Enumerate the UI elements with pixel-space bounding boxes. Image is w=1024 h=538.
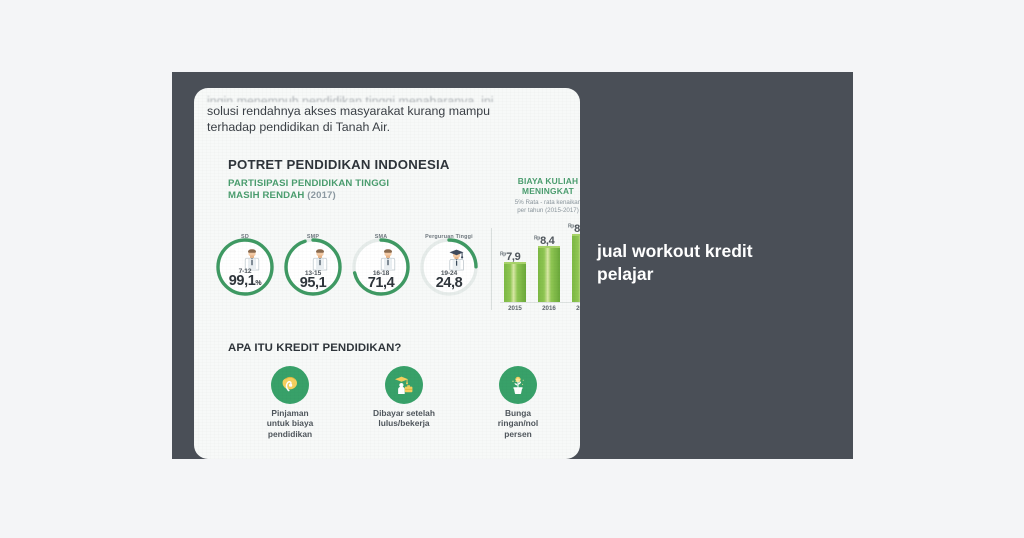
donut-sma: SMA 16-18 [348, 234, 414, 300]
section-subtitle-line-2: MASIH RENDAH [228, 190, 304, 201]
chart-baseline [500, 302, 580, 303]
donut-sma-value: 71,4 [368, 276, 395, 291]
student-icon [312, 249, 328, 271]
donut-perguruan-tinggi-value: 24,8 [436, 276, 463, 291]
student-icon [380, 249, 396, 271]
section-subtitle-line-1: PARTISIPASI PENDIDIKAN TINGGI [228, 178, 389, 190]
graduate-job-icon [385, 366, 423, 404]
infographic-card: ingin menempuh pendidikan tinggi menahar… [194, 88, 580, 459]
donut-sd: SD 7-12 [212, 234, 278, 300]
biaya-title-line-2: MENINGKAT [494, 186, 580, 196]
credit-features-list: Pinjaman untuk biaya pendidikan [244, 366, 564, 439]
biaya-title-line-1: BIAYA KULIAH [494, 176, 580, 186]
donut-smp-value: 95,1 [300, 276, 327, 291]
hand-money-icon [271, 366, 309, 404]
donut-sd-value: 99,1% [229, 274, 261, 291]
section-subtitle-year: (2017) [307, 190, 336, 201]
intro-paragraph: ingin menempuh pendidikan tinggi menahar… [207, 94, 559, 135]
graduate-student-icon [448, 249, 466, 271]
bar-group-2015: Rp7,9 2015 [504, 262, 526, 302]
bar-2016-value: Rp8,4 [534, 235, 554, 247]
intro-line-2: terhadap pendidikan di Tanah Air. [207, 120, 559, 136]
feature-pinjaman-text: Pinjaman untuk biaya pendidikan [244, 408, 336, 439]
screenshot-root: ingin menempuh pendidikan tinggi menahar… [0, 0, 1024, 538]
feature-bunga-ringan-text: Bunga ringan/nol persen [472, 408, 564, 439]
section-subtitle: PARTISIPASI PENDIDIKAN TINGGI MASIH REND… [228, 178, 389, 201]
feature-dibayar-setelah-lulus-text: Dibayar setelah lulus/bekerja [358, 408, 450, 429]
bar-group-2016: Rp8,4 2016 [538, 246, 560, 302]
section-divider [491, 228, 492, 310]
bar-2015-value: Rp7,9 [500, 251, 520, 263]
intro-clipped-line: ingin menempuh pendidikan tinggi menahar… [207, 94, 559, 102]
page-title: POTRET PENDIDIKAN INDONESIA [228, 157, 450, 172]
caption-line-1: jual workout kredit [597, 240, 812, 263]
biaya-kuliah-bar-chart: Rp7,9 2015 Rp8,4 2016 [498, 212, 580, 316]
credit-section-title: APA ITU KREDIT PENDIDIKAN? [228, 342, 401, 354]
plant-growth-icon [499, 366, 537, 404]
bar-2017-value: Rp8,7juta [568, 223, 580, 235]
participation-donut-chart: SD 7-12 [212, 220, 482, 316]
feature-pinjaman: Pinjaman untuk biaya pendidikan [244, 366, 336, 439]
bar-2015-year: 2015 [504, 305, 526, 312]
bar-2016-year: 2016 [538, 305, 560, 312]
intro-line-1: solusi rendahnya akses masyarakat kurang… [207, 104, 559, 120]
biaya-kuliah-title: BIAYA KULIAH MENINGKAT [494, 176, 580, 196]
donut-smp: SMP 13-15 [280, 234, 346, 300]
bar-2017-year: 2017 [572, 305, 580, 312]
bar-2016: Rp8,4 [538, 246, 560, 302]
biaya-kuliah-block: BIAYA KULIAH MENINGKAT 5% Rata - rata ke… [494, 176, 580, 215]
feature-bunga-ringan: Bunga ringan/nol persen [472, 366, 564, 439]
bar-2017: Rp8,7juta [572, 234, 580, 302]
biaya-note-line-1: 5% Rata - rata kenaikan [494, 199, 580, 207]
feature-dibayar-setelah-lulus: Dibayar setelah lulus/bekerja [358, 366, 450, 439]
bar-2015: Rp7,9 [504, 262, 526, 302]
donut-perguruan-tinggi: Perguruan Tinggi [416, 234, 482, 300]
caption-line-2: pelajar [597, 263, 812, 286]
caption-text: jual workout kredit pelajar [597, 240, 812, 286]
bar-group-2017: Rp8,7juta 2017 [572, 234, 580, 302]
